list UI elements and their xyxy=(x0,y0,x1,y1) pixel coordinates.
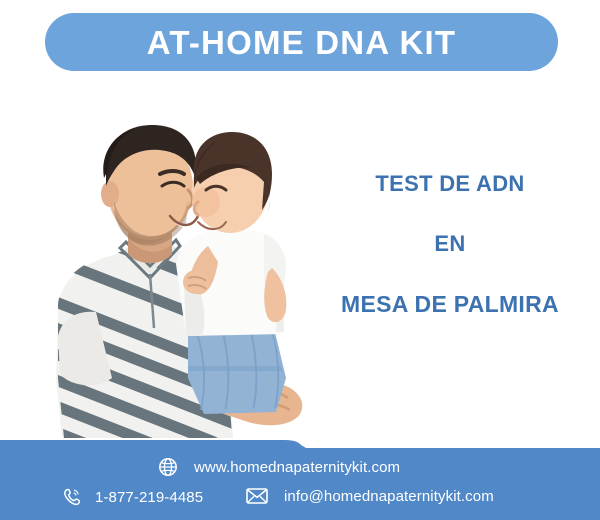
promo-banner-card: AT-HOME DNA KIT xyxy=(0,0,600,520)
footer-phone-row[interactable]: 1-877-219-4485 xyxy=(62,487,203,507)
title-banner: AT-HOME DNA KIT xyxy=(45,13,558,71)
envelope-icon xyxy=(246,487,268,505)
footer-email-label: info@homednapaternitykit.com xyxy=(284,488,494,505)
footer-website-row[interactable]: www.homednapaternitykit.com xyxy=(158,457,400,477)
footer-bar xyxy=(0,440,600,520)
headline-line-3: MESA DE PALMIRA xyxy=(310,293,590,316)
footer-email-row[interactable]: info@homednapaternitykit.com xyxy=(246,487,494,505)
headline-block: TEST DE ADN EN MESA DE PALMIRA xyxy=(310,160,590,316)
title-text: AT-HOME DNA KIT xyxy=(147,26,456,59)
headline-line-1: TEST DE ADN xyxy=(310,173,590,195)
father-and-child-photo xyxy=(0,78,330,458)
footer-website-label: www.homednapaternitykit.com xyxy=(194,459,400,476)
footer-phone-label: 1-877-219-4485 xyxy=(95,489,203,506)
headline-line-2: EN xyxy=(310,233,590,255)
globe-icon xyxy=(158,457,178,477)
phone-icon xyxy=(62,487,82,507)
